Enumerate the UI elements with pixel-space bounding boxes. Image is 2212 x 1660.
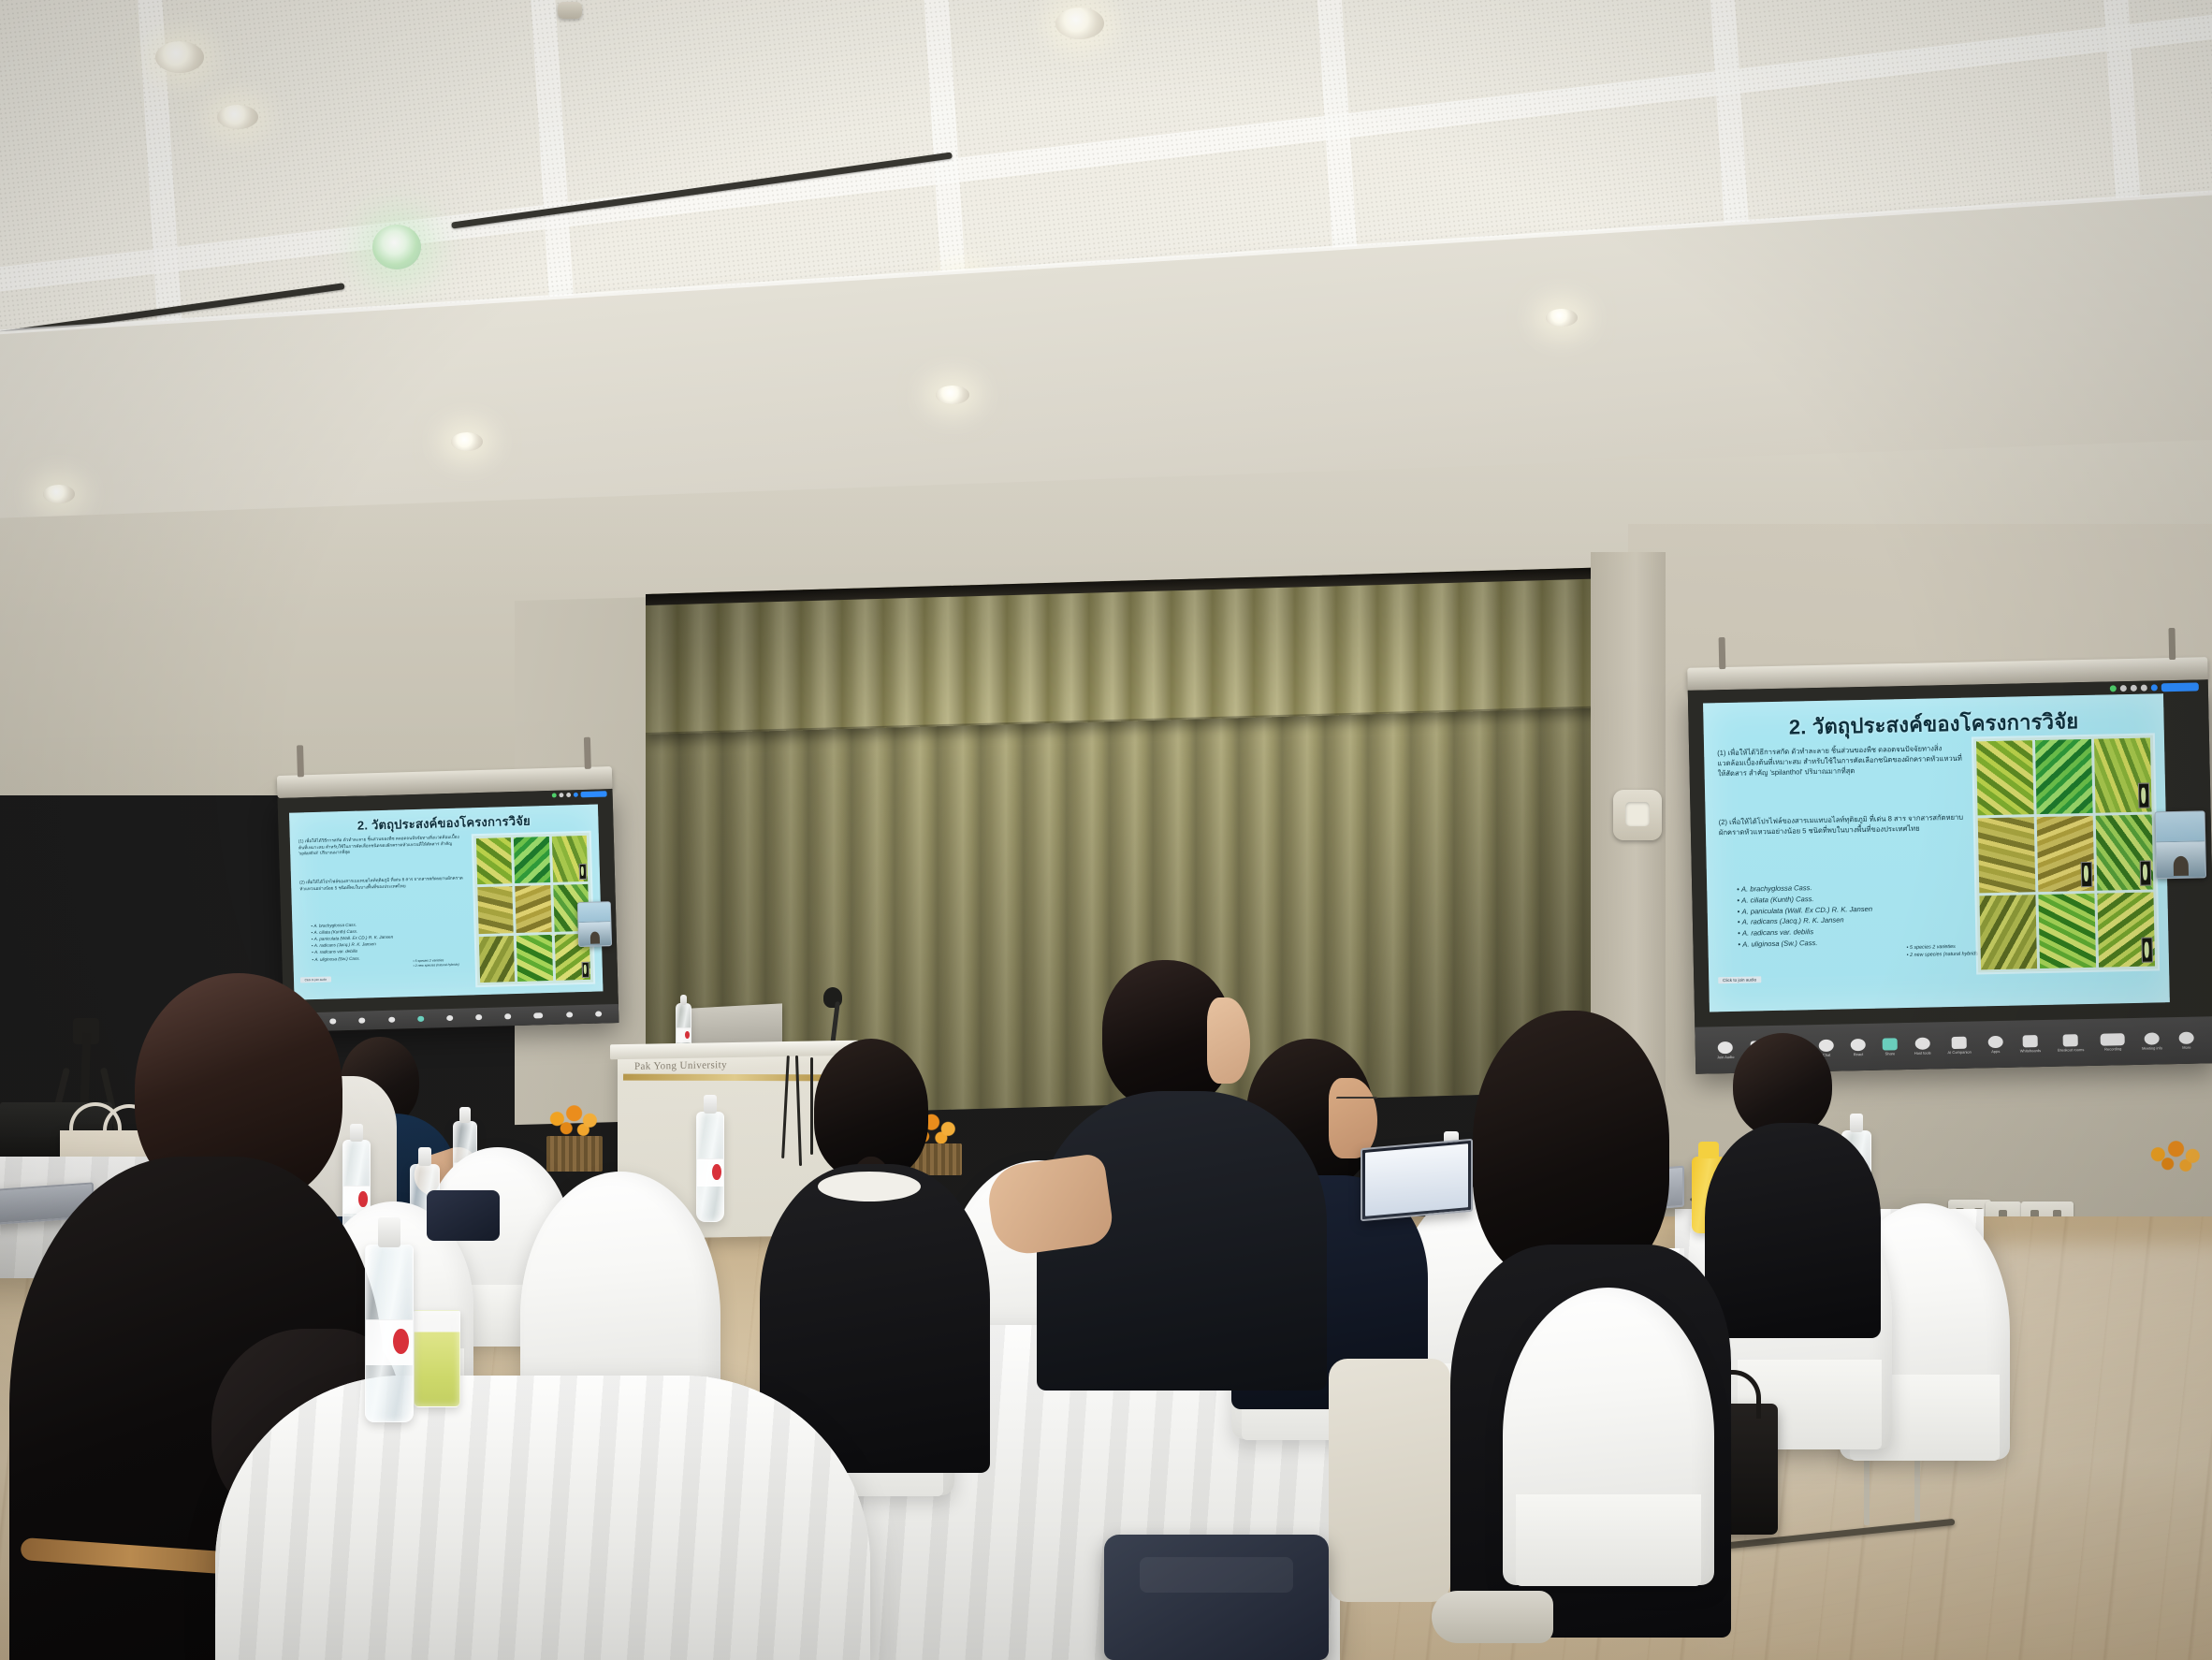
chat-icon — [1819, 1039, 1834, 1051]
zoom-button-whiteboards[interactable]: Whiteboards — [2019, 1035, 2041, 1053]
soffit-downlight — [43, 485, 75, 503]
flower-basket — [546, 1136, 603, 1172]
ceiling-downlight — [372, 225, 421, 269]
slide-photo-grid — [473, 833, 593, 985]
bottle-label — [677, 1027, 691, 1042]
photo-inset — [2080, 862, 2092, 887]
bottle-cap — [378, 1217, 400, 1247]
photo-inset — [2139, 860, 2151, 885]
zoom-control-dot-icon — [2141, 685, 2147, 692]
slide-paragraph-2: (2) เพื่อให้ได้โปรไฟล์ของสารเมแทบอไลท์ทุ… — [299, 876, 464, 893]
more-icon — [595, 1011, 602, 1016]
slide-paragraph-1: (1) เพื่อให้ได้วิธีการสกัด ตัวทำละลาย ชิ… — [1717, 743, 1967, 779]
heart-icon — [1851, 1038, 1866, 1050]
face — [1329, 1078, 1377, 1158]
zoom-participant-thumb — [578, 902, 611, 923]
screen-mount-arm — [2168, 628, 2176, 660]
chair-cover-skirt — [1516, 1494, 1702, 1586]
breakout-icon — [534, 1012, 544, 1018]
zoom-participant-thumb — [2156, 842, 2205, 879]
plant-photo — [2037, 816, 2095, 892]
headset-icon — [1718, 1041, 1733, 1053]
slide-paragraph-1: (1) เพื่อให้ได้วิธีการสกัด ตัวทำละลาย ชิ… — [298, 835, 463, 858]
photo-inset — [579, 864, 587, 880]
zoom-button-label: More — [2182, 1045, 2190, 1049]
photo-inset — [582, 962, 589, 978]
zoom-button-recording[interactable]: Recording — [2101, 1033, 2125, 1052]
plant-photo — [2038, 893, 2096, 968]
laptop-open[interactable] — [1361, 1139, 1473, 1221]
soffit-downlight — [1546, 309, 1578, 327]
plant-photo — [476, 837, 513, 884]
zoom-button-react[interactable]: React — [1851, 1038, 1866, 1056]
zoom-button-video[interactable] — [329, 1018, 336, 1024]
zoom-status-dot-icon — [2110, 685, 2117, 692]
chat-icon — [388, 1017, 395, 1023]
soffit-downlight — [155, 41, 204, 73]
slide-paragraph-2: (2) เพื่อให้ได้โปรไฟล์ของสารเมแทบอไลท์ทุ… — [1719, 812, 1968, 838]
podium-banner-text: Pak Yong University — [634, 1057, 840, 1072]
bottle-cap — [418, 1147, 431, 1166]
plant-photo — [1978, 817, 2036, 893]
record-icon — [2101, 1033, 2125, 1046]
zoom-button-label: AI Companion — [1947, 1050, 1971, 1055]
note-item: 2 new species (natural hybrids) — [414, 962, 479, 968]
zoom-join-audio-tag[interactable]: Click to join audio — [300, 977, 332, 983]
slide-surface-left: 2. วัตถุประสงค์ของโครงการวิจัย (1) เพื่อ… — [289, 804, 603, 999]
plant-photo — [2097, 892, 2155, 968]
screen-mount-arm — [1719, 637, 1726, 669]
zoom-join-audio-tag[interactable]: Click to join audio — [1718, 977, 1761, 984]
zoom-status-dot-icon — [552, 793, 557, 797]
zoom-button-share[interactable]: Share — [1883, 1038, 1898, 1056]
photo-inset — [2138, 783, 2150, 808]
water-bottle[interactable] — [696, 1112, 724, 1222]
slide-species-list: A. brachyglossa Cass. A. ciliata (Kunth)… — [1737, 879, 1990, 950]
zoom-control-dot-icon — [2120, 685, 2127, 692]
bottle-cap — [704, 1095, 716, 1114]
plant-photo — [1976, 740, 2034, 816]
left-screen-surface: 2. วัตถุประสงค์ของโครงการวิจัย (1) เพื่อ… — [278, 789, 619, 1032]
apps-icon — [475, 1014, 482, 1020]
zoom-button-label: Breakout rooms — [2058, 1048, 2084, 1053]
zoom-button-label: React — [1854, 1053, 1864, 1056]
slide-species-list: A. brachyglossa Cass. A. ciliata (Kunth)… — [311, 918, 480, 963]
share-screen-icon — [417, 1016, 424, 1022]
slide-photo-grid — [1973, 735, 2158, 972]
plant-photo — [514, 837, 550, 883]
bottle-cap — [680, 995, 687, 1004]
zoom-button-label: Whiteboards — [2020, 1049, 2042, 1053]
shoe — [1432, 1591, 1553, 1643]
zoom-button-participants[interactable] — [359, 1018, 366, 1024]
zoom-button-label: Apps — [1991, 1049, 2000, 1053]
table-linen — [215, 1376, 870, 1660]
bottle-label — [697, 1158, 723, 1187]
breakout-icon — [2063, 1034, 2078, 1046]
banquet-chair[interactable] — [1503, 1288, 1714, 1585]
zoom-participant-panel[interactable] — [2155, 810, 2206, 879]
podium-top — [610, 1041, 859, 1060]
zoom-button-more[interactable] — [595, 1011, 602, 1016]
zoom-button-meeting-info[interactable]: Meeting info — [2142, 1032, 2162, 1050]
zoom-window-controls[interactable] — [552, 791, 607, 798]
collar — [818, 1172, 921, 1201]
whiteboard-icon — [504, 1013, 511, 1019]
soffit-downlight — [451, 432, 483, 451]
zoom-button-breakout-rooms[interactable]: Breakout rooms — [2058, 1034, 2085, 1053]
apps-icon — [1987, 1035, 2002, 1047]
plant-photo — [477, 886, 514, 933]
zoom-button-recording[interactable] — [566, 1012, 573, 1017]
zoom-participant-thumb — [2156, 811, 2205, 842]
plant-photo — [517, 935, 553, 982]
slide-surface-right: 2. วัตถุประสงค์ของโครงการวิจัย (1) เพื่อ… — [1703, 693, 2170, 1012]
zoom-button-apps[interactable] — [475, 1014, 482, 1020]
zoom-control-dot-icon — [2131, 685, 2137, 692]
eyeglasses-icon — [1336, 1097, 1377, 1106]
laptop-screen — [1365, 1143, 1468, 1216]
zoom-button-label: Meeting info — [2142, 1046, 2162, 1050]
info-icon — [2145, 1032, 2160, 1044]
ceiling-downlight — [217, 105, 258, 129]
bottle-cap — [459, 1107, 471, 1123]
zoom-button-host-tools[interactable] — [446, 1015, 453, 1021]
zoom-button-more[interactable]: More — [2178, 1031, 2193, 1049]
zoom-control-dot-icon — [574, 793, 578, 797]
screen-mount-arm — [584, 737, 591, 769]
plant-photo — [2096, 815, 2154, 891]
zoom-control-dot-icon — [2151, 684, 2158, 691]
torso — [1705, 1123, 1881, 1338]
zoom-button-label: Join Audio — [1717, 1055, 1735, 1058]
zoom-button-label: Share — [1885, 1052, 1895, 1056]
camera-icon — [329, 1018, 336, 1024]
plant-photo — [1979, 895, 2037, 970]
zoom-button-label: Recording — [2104, 1047, 2121, 1051]
zoom-button-breakout[interactable] — [534, 1012, 544, 1018]
navy-bag[interactable] — [427, 1190, 500, 1241]
left-projection-screen: 2. วัตถุประสงค์ของโครงการวิจัย (1) เพื่อ… — [278, 789, 619, 1032]
slide-notes: 5 species 2 varieties 2 new species (nat… — [413, 957, 478, 968]
zoom-button-share[interactable] — [417, 1016, 424, 1022]
plant-photo — [2035, 739, 2093, 815]
zoom-leave-button[interactable] — [581, 791, 607, 797]
plant-photo — [516, 885, 552, 932]
soffit-downlight — [936, 386, 969, 404]
zoom-button-label: Host tools — [1914, 1051, 1931, 1055]
conference-room-photo: 2. วัตถุประสงค์ของโครงการวิจัย (1) เพื่อ… — [0, 0, 2212, 1660]
more-icon — [2178, 1031, 2193, 1043]
zoom-participant-thumb — [578, 922, 611, 946]
zoom-control-dot-icon — [559, 793, 563, 797]
zoom-leave-button[interactable] — [2161, 682, 2199, 692]
shield-icon — [446, 1015, 453, 1021]
bottle-label — [366, 1319, 413, 1365]
zoom-button-ai-companion[interactable]: AI Companion — [1947, 1036, 1972, 1055]
plant-photo — [479, 936, 516, 983]
trousers — [1329, 1359, 1450, 1602]
zoom-button-join-audio[interactable]: Join Audio — [1717, 1041, 1735, 1058]
screen-mount-arm — [297, 745, 304, 777]
hair — [1473, 1011, 1669, 1282]
zoom-control-dot-icon — [566, 793, 571, 797]
water-bottle[interactable] — [365, 1245, 414, 1422]
zoom-window-controls[interactable] — [2110, 682, 2199, 692]
wall-speaker-icon — [1613, 790, 1662, 840]
right-screen-surface: 2. วัตถุประสงค์ของโครงการวิจัย (1) เพื่อ… — [1688, 679, 2212, 1074]
zoom-button-host-tools[interactable]: Host tools — [1914, 1037, 1930, 1055]
plant-photo — [551, 836, 588, 882]
zoom-participant-panel[interactable] — [577, 901, 612, 947]
zoom-button-whiteboards[interactable] — [504, 1013, 511, 1019]
zoom-button-chat[interactable] — [388, 1017, 395, 1023]
sprinkler-head — [558, 2, 582, 19]
marigold-flowers — [2143, 1138, 2212, 1177]
shield-icon — [1914, 1037, 1929, 1049]
juice-glass[interactable] — [414, 1310, 460, 1407]
photo-inset — [2141, 938, 2153, 963]
ceiling-downlight — [1055, 7, 1104, 39]
participants-icon — [359, 1018, 366, 1024]
plant-photo — [2094, 738, 2152, 814]
navy-backpack[interactable] — [1104, 1535, 1329, 1660]
right-projection-screen: 2. วัตถุประสงค์ของโครงการวิจัย (1) เพื่อ… — [1688, 679, 2212, 1074]
record-icon — [566, 1012, 573, 1017]
sparkle-icon — [1952, 1036, 1967, 1048]
bottle-cap — [1850, 1114, 1863, 1132]
share-screen-icon — [1883, 1038, 1898, 1050]
zoom-button-apps[interactable]: Apps — [1987, 1035, 2002, 1053]
whiteboard-icon — [2023, 1035, 2038, 1047]
podium-cable — [810, 1057, 813, 1155]
bottle-cap — [350, 1124, 362, 1142]
banquet-table-foreground — [215, 1376, 870, 1660]
